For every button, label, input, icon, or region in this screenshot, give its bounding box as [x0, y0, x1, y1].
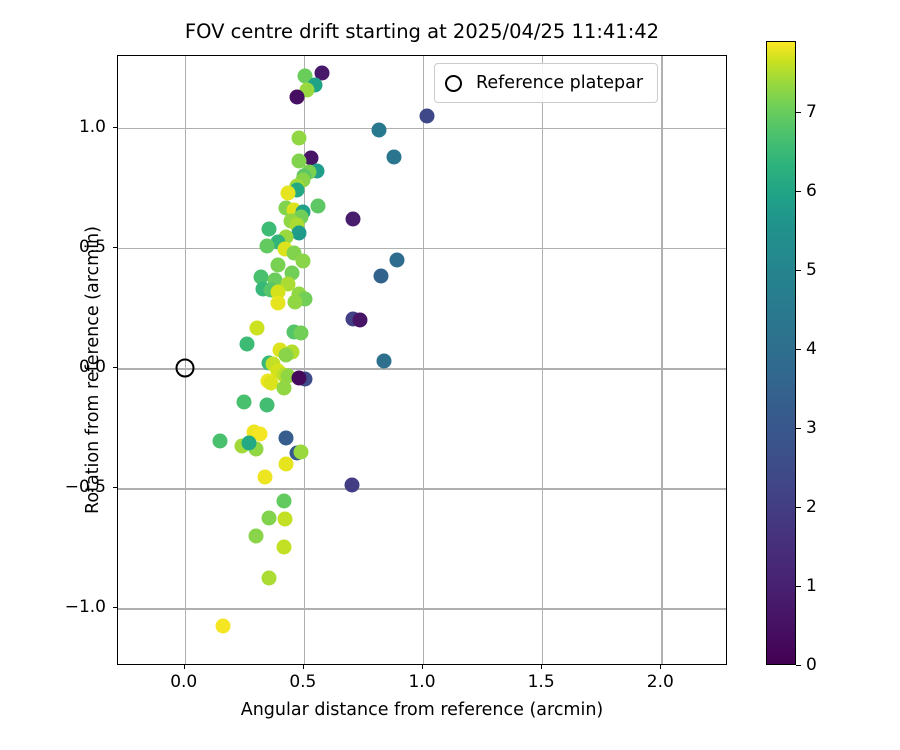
- scatter-point: [277, 380, 292, 395]
- scatter-point: [215, 618, 230, 633]
- colorbar-tick: [796, 349, 801, 350]
- legend-label: Reference platepar: [476, 73, 643, 93]
- scatter-point: [277, 512, 292, 527]
- y-tick: [113, 247, 117, 248]
- plot-area: [118, 56, 726, 664]
- gridline-horizontal: [118, 248, 726, 249]
- colorbar-tick-label: 6: [806, 181, 817, 201]
- scatter-point: [289, 89, 304, 104]
- x-tick-label: 2.0: [647, 672, 674, 692]
- x-tick: [422, 665, 423, 669]
- scatter-point: [291, 371, 306, 386]
- scatter-point: [374, 268, 389, 283]
- colorbar: [766, 41, 796, 665]
- x-tick: [303, 665, 304, 669]
- scatter-point: [387, 149, 402, 164]
- scatter-point: [249, 320, 264, 335]
- scatter-point: [270, 257, 285, 272]
- x-tick-label: 0.0: [170, 672, 197, 692]
- colorbar-gradient: [766, 41, 796, 665]
- y-axis-label: Rotation from reference (arcmin): [83, 160, 103, 580]
- colorbar-tick: [796, 191, 801, 192]
- scatter-point: [293, 445, 308, 460]
- gridline-horizontal: [118, 608, 726, 609]
- scatter-point: [419, 109, 434, 124]
- x-tick-label: 0.5: [289, 672, 316, 692]
- scatter-point: [261, 511, 276, 526]
- colorbar-tick-label: 3: [806, 418, 817, 438]
- y-tick-label: 1.0: [79, 117, 106, 137]
- scatter-point: [259, 397, 274, 412]
- x-tick: [660, 665, 661, 669]
- colorbar-tick: [796, 586, 801, 587]
- x-tick: [541, 665, 542, 669]
- scatter-point: [295, 253, 310, 268]
- scatter-point: [371, 123, 386, 138]
- gridline-horizontal: [118, 488, 726, 489]
- scatter-point: [248, 529, 263, 544]
- scatter-point: [278, 431, 293, 446]
- reference-platepar-marker-icon: [445, 75, 462, 92]
- scatter-point: [344, 478, 359, 493]
- scatter-point: [377, 354, 392, 369]
- scatter-point: [292, 130, 307, 145]
- scatter-point: [239, 337, 254, 352]
- legend[interactable]: Reference platepar: [434, 63, 658, 103]
- scatter-point: [278, 457, 293, 472]
- colorbar-tick: [796, 507, 801, 508]
- scatter-point: [288, 295, 303, 310]
- x-tick-label: 1.0: [408, 672, 435, 692]
- colorbar-tick-label: 2: [806, 497, 817, 517]
- scatter-point: [281, 185, 296, 200]
- colorbar-tick-label: 7: [806, 102, 817, 122]
- colorbar-tick: [796, 428, 801, 429]
- scatter-point: [278, 347, 293, 362]
- scatter-point: [236, 394, 251, 409]
- y-tick-label: −1.0: [65, 597, 106, 617]
- y-tick: [113, 367, 117, 368]
- y-tick: [113, 607, 117, 608]
- colorbar-tick-label: 1: [806, 576, 817, 596]
- scatter-point: [311, 199, 326, 214]
- scatter-point: [389, 253, 404, 268]
- x-axis-label: Angular distance from reference (arcmin): [117, 700, 727, 720]
- x-tick-label: 1.5: [528, 672, 555, 692]
- colorbar-tick: [796, 665, 801, 666]
- scatter-point: [241, 435, 256, 450]
- scatter-point: [294, 325, 309, 340]
- scatter-point: [345, 211, 360, 226]
- colorbar-tick: [796, 112, 801, 113]
- scatter-point: [276, 540, 291, 555]
- colorbar-tick-label: 0: [806, 655, 817, 675]
- plot-axes: [117, 55, 727, 665]
- gridline-horizontal: [118, 368, 726, 369]
- colorbar-tick-label: 5: [806, 260, 817, 280]
- gridline-vertical: [304, 56, 305, 664]
- scatter-point: [262, 570, 277, 585]
- scatter-point: [292, 225, 307, 240]
- gridline-vertical: [542, 56, 543, 664]
- scatter-point: [258, 469, 273, 484]
- y-tick: [113, 127, 117, 128]
- y-tick: [113, 487, 117, 488]
- scatter-point: [352, 313, 367, 328]
- scatter-point: [270, 295, 285, 310]
- scatter-point: [212, 434, 227, 449]
- scatter-point: [276, 494, 291, 509]
- x-tick: [184, 665, 185, 669]
- gridline-horizontal: [118, 128, 726, 129]
- figure: FOV centre drift starting at 2025/04/25 …: [0, 0, 900, 750]
- chart-title: FOV centre drift starting at 2025/04/25 …: [117, 20, 727, 43]
- scatter-point: [259, 239, 274, 254]
- gridline-vertical: [661, 56, 662, 664]
- colorbar-tick: [796, 270, 801, 271]
- reference-platepar-point: [175, 359, 194, 378]
- colorbar-tick-label: 4: [806, 339, 817, 359]
- gridline-vertical: [423, 56, 424, 664]
